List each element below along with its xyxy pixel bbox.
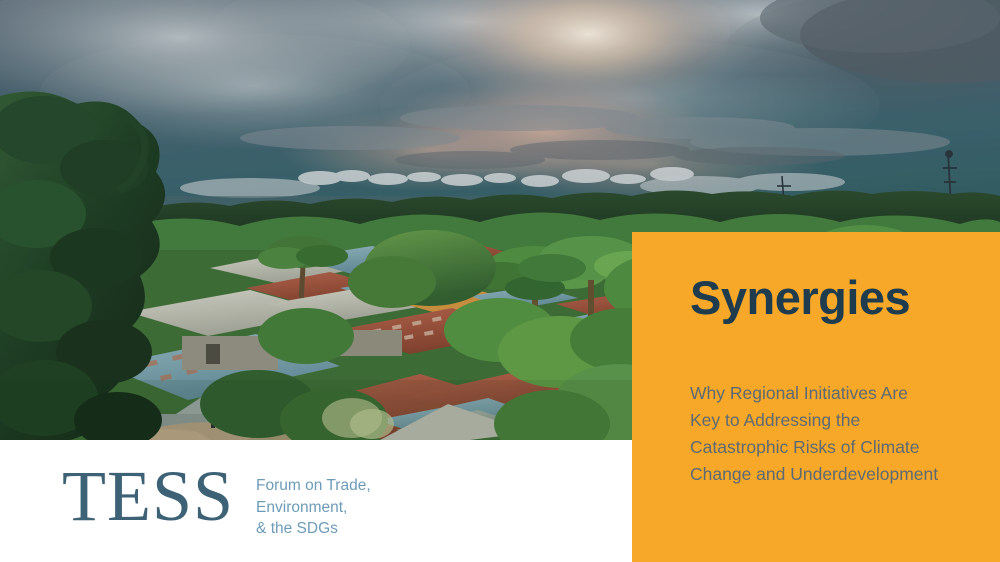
logo-tagline-line-2: Environment,	[256, 497, 371, 519]
logo-wordmark: TESS	[62, 462, 234, 530]
title-panel: Synergies Why Regional Initiatives Are K…	[632, 232, 1000, 562]
title-slide: TESS Forum on Trade, Environment, & the …	[0, 0, 1000, 562]
page-subtitle-line-4: Change and Underdevelopment	[690, 461, 982, 488]
page-subtitle-line-3: Catastrophic Risks of Climate	[690, 434, 982, 461]
page-subtitle-line-1: Why Regional Initiatives Are	[690, 380, 982, 407]
logo-tagline: Forum on Trade, Environment, & the SDGs	[256, 462, 371, 540]
page-title: Synergies	[690, 274, 910, 321]
logo-tagline-line-1: Forum on Trade,	[256, 475, 371, 497]
page-subtitle-line-2: Key to Addressing the	[690, 407, 982, 434]
footer-bar: TESS Forum on Trade, Environment, & the …	[0, 440, 632, 562]
page-subtitle: Why Regional Initiatives Are Key to Addr…	[690, 380, 982, 488]
logo-tagline-line-3: & the SDGs	[256, 518, 371, 540]
tess-logo[interactable]: TESS Forum on Trade, Environment, & the …	[62, 462, 371, 540]
